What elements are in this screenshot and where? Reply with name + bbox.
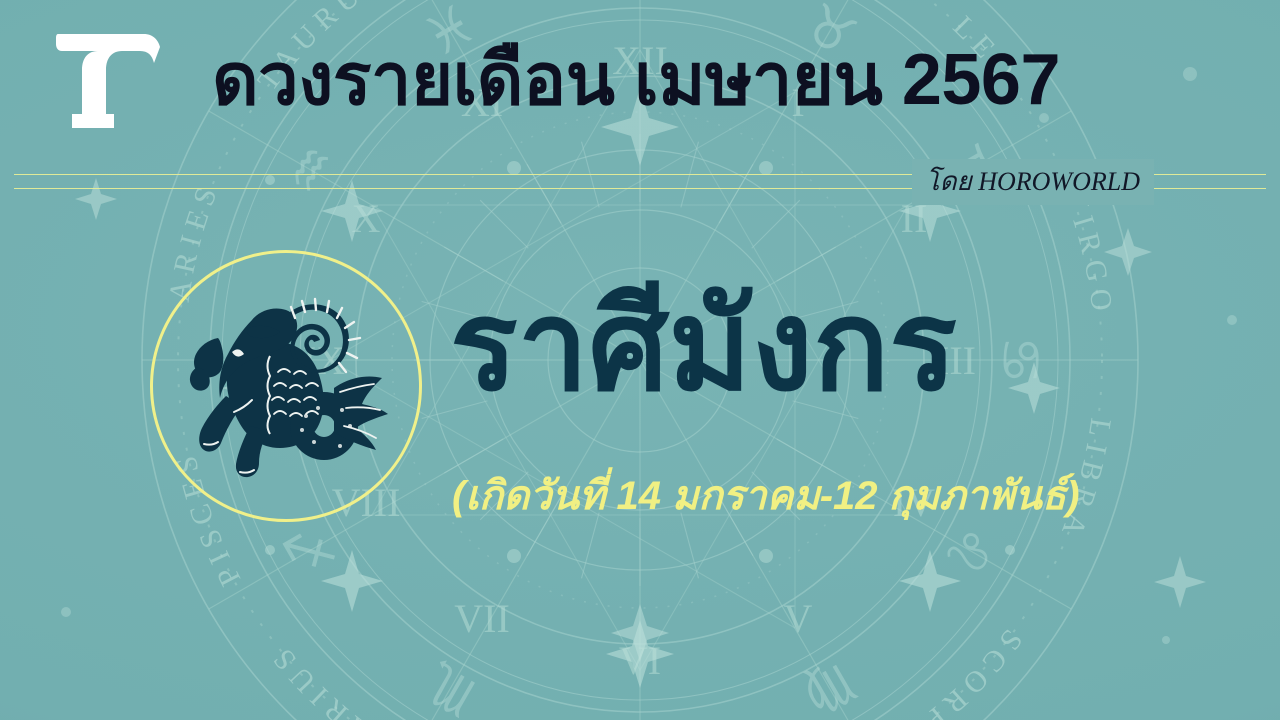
svg-text:VII: VII [454, 596, 510, 641]
zodiac-emblem [150, 250, 422, 522]
svg-text:X: X [352, 196, 381, 241]
thairath-t-logo-icon[interactable] [52, 28, 164, 136]
zodiac-sign-title: ราศีมังกร [450, 282, 957, 411]
capricorn-sea-goat-icon [174, 276, 398, 496]
svg-text:VI: VI [619, 638, 661, 683]
svg-text:♋: ♋ [989, 336, 1052, 384]
svg-text:♏: ♏ [413, 650, 486, 720]
svg-text:V: V [784, 596, 813, 641]
svg-text:♍: ♍ [794, 650, 867, 720]
svg-text:♎: ♎ [616, 709, 664, 720]
page-title: ดวงรายเดือน เมษายน 2567 [212, 44, 1060, 116]
byline: โดย HOROWORLD [912, 159, 1154, 205]
svg-text:AQUARIUS: AQUARIUS [262, 637, 449, 720]
svg-text:SCORPIO: SCORPIO [876, 623, 1028, 720]
zodiac-date-range: (เกิดวันที่ 14 มกราคม-12 กุมภาพันธ์) [452, 463, 1080, 527]
banner-header: ดวงรายเดือน เมษายน 2567 [0, 0, 1280, 170]
horoscope-banner: ARIES TAURUS GEMINI CANCER LEO VIRGO LIB… [0, 0, 1280, 720]
svg-text:♐: ♐ [271, 514, 350, 587]
